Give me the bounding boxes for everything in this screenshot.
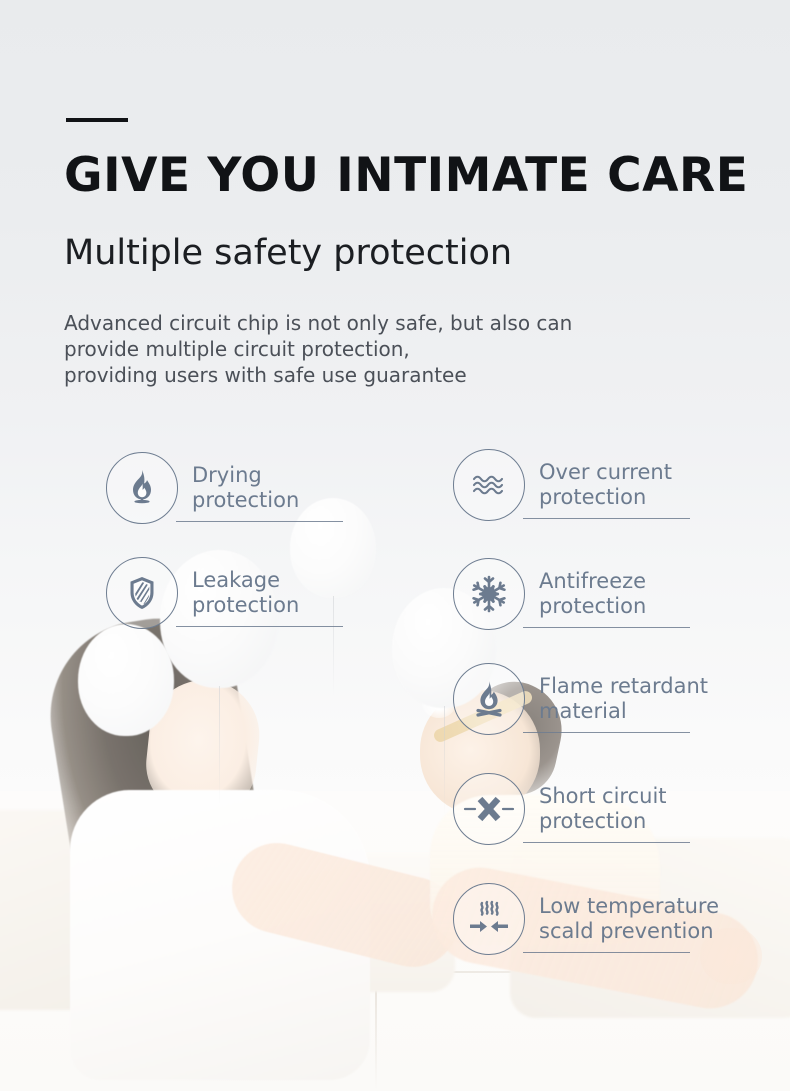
feature-label-line-1: Antifreeze bbox=[539, 569, 646, 594]
body-copy: Advanced circuit chip is not only safe, … bbox=[64, 310, 572, 388]
feature-label-line-1: Over current bbox=[539, 460, 672, 485]
balloon-string-2 bbox=[333, 596, 334, 696]
feature-icon-circle bbox=[453, 449, 525, 521]
campfire-icon bbox=[469, 678, 509, 720]
feature-label-line-2: scald prevention bbox=[539, 919, 719, 944]
feature-icon-circle bbox=[453, 883, 525, 955]
feature-label-line-2: material bbox=[539, 699, 708, 724]
flame-icon bbox=[123, 468, 161, 508]
feature-icon-circle bbox=[453, 773, 525, 845]
balloon-string-1 bbox=[219, 686, 220, 806]
feature-underline bbox=[523, 518, 690, 519]
feature-label: Flame retardant material bbox=[539, 674, 708, 724]
heat-arrows-icon bbox=[467, 898, 511, 940]
feature-label-line-1: Drying bbox=[192, 463, 299, 488]
snowflake-icon bbox=[468, 573, 510, 615]
page-title: GIVE YOU INTIMATE CARE bbox=[64, 148, 748, 203]
feature-label: Drying protection bbox=[192, 463, 299, 513]
infographic-page: GIVE YOU INTIMATE CARE Multiple safety p… bbox=[0, 0, 790, 1091]
feature-label: Over current protection bbox=[539, 460, 672, 510]
feature-label: Low temperature scald prevention bbox=[539, 894, 719, 944]
feature-label-line-1: Short circuit bbox=[539, 784, 667, 809]
body-line-3: providing users with safe use guarantee bbox=[64, 362, 572, 388]
feature-icon-circle bbox=[453, 663, 525, 735]
feature-label-line-1: Low temperature bbox=[539, 894, 719, 919]
balloon-4 bbox=[78, 624, 174, 736]
shield-icon bbox=[123, 573, 161, 613]
feature-label-line-2: protection bbox=[539, 809, 667, 834]
feature-label: Antifreeze protection bbox=[539, 569, 646, 619]
feature-label-line-2: protection bbox=[539, 594, 646, 619]
feature-icon-circle bbox=[106, 452, 178, 524]
page-subtitle: Multiple safety protection bbox=[64, 233, 512, 273]
balloon-string-3 bbox=[444, 706, 445, 816]
feature-over-current-protection[interactable]: Over current protection bbox=[453, 449, 672, 521]
feature-leakage-protection[interactable]: Leakage protection bbox=[106, 557, 299, 629]
feature-short-circuit-protection[interactable]: Short circuit protection bbox=[453, 773, 667, 845]
body-line-2: provide multiple circuit protection, bbox=[64, 336, 572, 362]
feature-underline bbox=[176, 626, 343, 627]
feature-low-temperature-scald-prevention[interactable]: Low temperature scald prevention bbox=[453, 883, 719, 955]
accent-rule bbox=[66, 118, 128, 122]
feature-icon-circle bbox=[453, 558, 525, 630]
feature-label-line-1: Flame retardant bbox=[539, 674, 708, 699]
feature-underline bbox=[523, 732, 690, 733]
feature-drying-protection[interactable]: Drying protection bbox=[106, 452, 299, 524]
feature-label: Short circuit protection bbox=[539, 784, 667, 834]
feature-label-line-2: protection bbox=[192, 488, 299, 513]
feature-label-line-1: Leakage bbox=[192, 568, 299, 593]
x-circuit-icon bbox=[463, 794, 515, 824]
feature-underline bbox=[523, 627, 690, 628]
feature-underline bbox=[176, 521, 343, 522]
feature-underline bbox=[523, 952, 690, 953]
feature-label-line-2: protection bbox=[539, 485, 672, 510]
feature-underline bbox=[523, 842, 690, 843]
feature-flame-retardant-material[interactable]: Flame retardant material bbox=[453, 663, 708, 735]
body-line-1: Advanced circuit chip is not only safe, … bbox=[64, 310, 572, 336]
feature-label-line-2: protection bbox=[192, 593, 299, 618]
waves-icon bbox=[469, 468, 509, 502]
balloon-2 bbox=[290, 498, 376, 598]
feature-antifreeze-protection[interactable]: Antifreeze protection bbox=[453, 558, 646, 630]
feature-label: Leakage protection bbox=[192, 568, 299, 618]
feature-icon-circle bbox=[106, 557, 178, 629]
